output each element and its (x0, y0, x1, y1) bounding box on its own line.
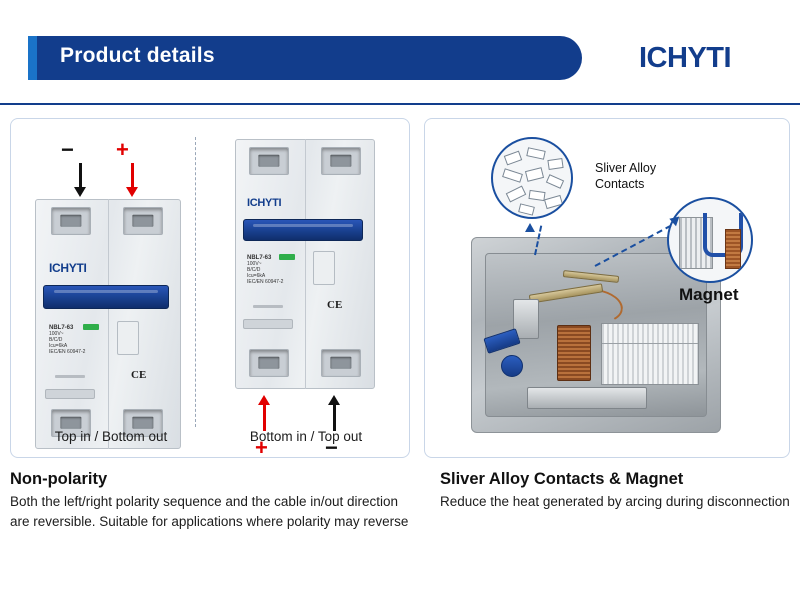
breaker-two-indicator-window (313, 251, 335, 285)
breaker-two-screw-slot (253, 305, 283, 308)
page-title: Product details (60, 44, 215, 68)
breaker-one-terminal-top-left (51, 207, 91, 235)
breaker-one-rail-slot (45, 389, 95, 399)
right-panel-inner: Sliver Alloy Contacts Magnet (425, 119, 789, 457)
left-image-panel: − + (10, 118, 410, 458)
panel-divider (195, 137, 196, 427)
silver-alloy-contacts-zoom-bubble (491, 137, 573, 219)
magnet-zoom-bubble (667, 197, 753, 283)
magnet-label: Magnet (679, 285, 739, 305)
breaker-two-toggle-lever[interactable] (243, 219, 363, 241)
breaker-one-indicator-window (117, 321, 139, 355)
breaker-unit-one: ICHYTI NBL7-63 100V~ B/C/D Icu=6kA IEC/E… (35, 199, 181, 449)
contact-chip (547, 158, 563, 170)
right-block-body: Reduce the heat generated by arcing duri… (440, 492, 790, 512)
contacts-label-line-1: Sliver Alloy (595, 161, 656, 177)
left-panel-inner: − + (11, 119, 409, 457)
page-header: Product details ICHYTI (0, 0, 800, 104)
breaker-one-logo: ICHYTI (49, 261, 87, 275)
breaker-one-pole-split (108, 199, 109, 449)
brand-logo: ICHYTI (596, 34, 774, 82)
breaker-one-green-marker (83, 324, 99, 330)
left-block-title: Non-polarity (10, 470, 107, 489)
breaker-two-terminal-top-right (321, 147, 361, 175)
breaker-two-green-marker (279, 254, 295, 260)
breaker-two-terminal-bottom-left (249, 349, 289, 377)
contact-chip (504, 151, 522, 166)
breaker-two-terminal-bottom-right (321, 349, 361, 377)
trip-coil (557, 325, 591, 381)
contact-chip (544, 195, 563, 209)
magnet-coil (725, 229, 741, 269)
arc-chamber-grid (601, 323, 699, 385)
contacts-label-line-2: Contacts (595, 177, 656, 193)
din-rail-clip (527, 387, 647, 409)
breaker-one-caption: Top in / Bottom out (31, 429, 191, 444)
breaker-two-logo: ICHYTI (247, 197, 281, 209)
contact-chip (506, 186, 527, 203)
breaker-two-ce-mark: CE (327, 299, 342, 311)
contacts-callout-arrow (525, 223, 535, 232)
contact-chip (525, 167, 544, 182)
contact-chip (526, 147, 545, 160)
silver-alloy-contacts-label: Sliver Alloy Contacts (595, 161, 656, 192)
breaker-two-spec-4: IEC/EN 60947-2 (247, 280, 301, 286)
breaker-two-pole-split (305, 139, 306, 389)
breaker-two-caption: Bottom in / Top out (211, 429, 401, 444)
blue-screw-head (501, 355, 523, 377)
header-underline (0, 103, 800, 105)
breaker-one-spec-4: IEC/EN 60947-2 (49, 350, 105, 356)
breaker-one-terminal-top-right (123, 207, 163, 235)
breaker-two-terminal-top-left (249, 147, 289, 175)
breaker-one-ce-mark: CE (131, 369, 146, 381)
right-block-title: Sliver Alloy Contacts & Magnet (440, 470, 683, 489)
contact-chip (546, 174, 564, 189)
contact-chip (518, 203, 535, 215)
left-block-body: Both the left/right polarity sequence an… (10, 492, 414, 531)
header-accent-bar (28, 36, 37, 80)
page-root: Product details ICHYTI − + (0, 0, 800, 591)
breaker-unit-two: ICHYTI NBL7-63 100V~ B/C/D Icu=6kA IEC/E… (235, 139, 375, 389)
right-image-panel: Sliver Alloy Contacts Magnet (424, 118, 790, 458)
brand-logo-text: ICHYTI (639, 42, 731, 75)
breaker-two-rail-slot (243, 319, 293, 329)
breaker-one-toggle-lever[interactable] (43, 285, 169, 309)
contact-chip (502, 168, 523, 182)
breaker-one-screw-slot (55, 375, 85, 378)
